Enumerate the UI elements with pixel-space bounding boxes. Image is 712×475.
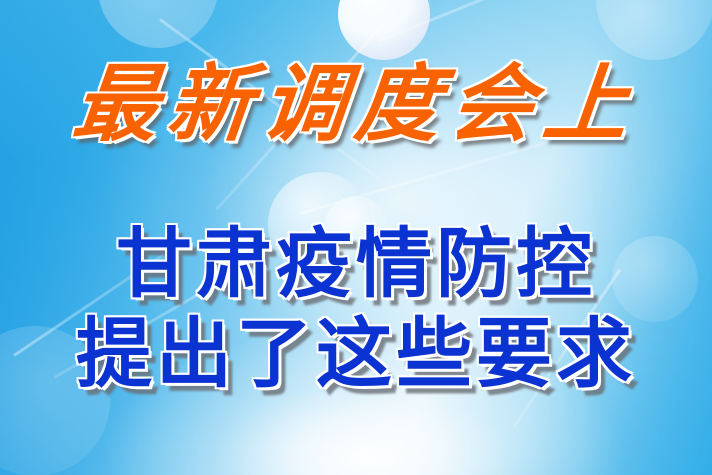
headline-main-line-2: 提出了这些要求 xyxy=(0,316,712,392)
headline-block: 最新调度会上 甘肃疫情防控 提出了这些要求 xyxy=(0,0,712,475)
headline-eyebrow: 最新调度会上 xyxy=(0,62,712,146)
headline-main-line-1: 甘肃疫情防控 xyxy=(0,226,712,302)
poster-canvas: 最新调度会上 甘肃疫情防控 提出了这些要求 xyxy=(0,0,712,475)
